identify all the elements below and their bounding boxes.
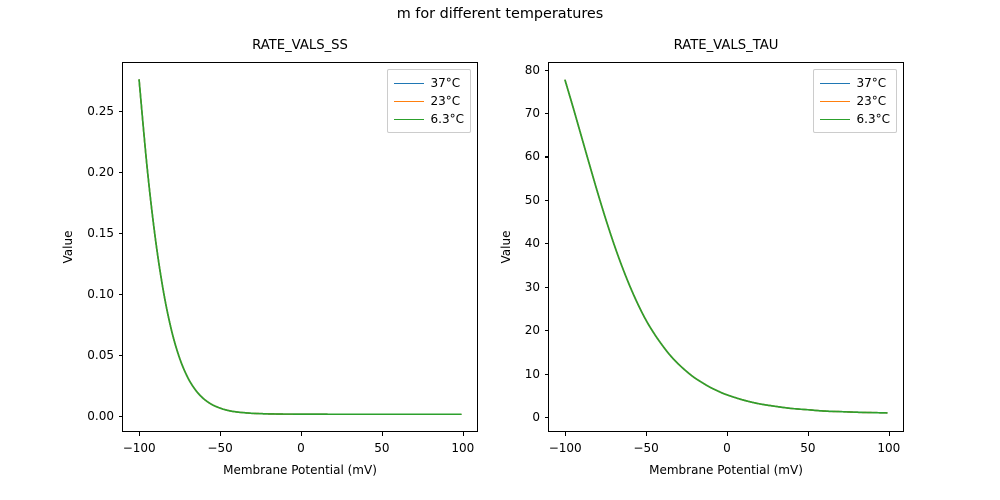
subplot-title-right: RATE_VALS_TAU	[549, 38, 903, 53]
y-tick-label: 0.15	[87, 226, 114, 240]
y-tick-label: 0.10	[87, 287, 114, 301]
y-tick-mark	[545, 113, 550, 114]
x-tick-mark	[565, 431, 566, 436]
legend-item[interactable]: 6.3°C	[820, 110, 890, 128]
x-tick-mark	[463, 431, 464, 436]
x-tick-label: 50	[800, 441, 815, 455]
x-tick-mark	[646, 431, 647, 436]
y-tick-label: 0.00	[87, 409, 114, 423]
y-tick-mark	[545, 200, 550, 201]
legend-left[interactable]: 37°C23°C6.3°C	[387, 69, 471, 133]
legend-swatch-line	[394, 119, 424, 120]
legend-swatch-line	[820, 101, 850, 102]
y-tick-label: 10	[525, 367, 540, 381]
legend-right[interactable]: 37°C23°C6.3°C	[813, 69, 897, 133]
legend-item[interactable]: 37°C	[394, 74, 464, 92]
legend-label: 6.3°C	[857, 112, 890, 126]
x-tick-label: −50	[207, 441, 232, 455]
x-tick-label: 100	[877, 441, 900, 455]
y-tick-mark	[545, 417, 550, 418]
y-tick-mark	[545, 287, 550, 288]
legend-label: 6.3°C	[431, 112, 464, 126]
legend-item[interactable]: 23°C	[820, 92, 890, 110]
legend-item[interactable]: 37°C	[820, 74, 890, 92]
x-tick-mark	[727, 431, 728, 436]
legend-swatch-line	[820, 119, 850, 120]
y-tick-label: 0.20	[87, 165, 114, 179]
legend-item[interactable]: 6.3°C	[394, 110, 464, 128]
legend-swatch-line	[820, 83, 850, 84]
x-tick-label: −100	[549, 441, 582, 455]
y-axis-label-left: Value	[61, 231, 75, 264]
x-tick-mark	[808, 431, 809, 436]
legend-label: 37°C	[431, 76, 461, 90]
x-axis-label-left: Membrane Potential (mV)	[123, 463, 477, 477]
x-tick-mark	[382, 431, 383, 436]
legend-label: 37°C	[857, 76, 887, 90]
y-tick-label: 40	[525, 236, 540, 250]
axes-rate-vals-tau: RATE_VALS_TAU −100−500501000102030405060…	[548, 62, 904, 432]
y-tick-label: 0.25	[87, 104, 114, 118]
y-tick-mark	[545, 374, 550, 375]
y-tick-label: 70	[525, 106, 540, 120]
x-tick-label: −100	[123, 441, 156, 455]
y-tick-label: 0.05	[87, 348, 114, 362]
x-tick-mark	[139, 431, 140, 436]
y-tick-label: 80	[525, 63, 540, 77]
x-tick-label: −50	[633, 441, 658, 455]
x-tick-label: 0	[723, 441, 731, 455]
axes-rate-vals-ss: RATE_VALS_SS −100−500501000.000.050.100.…	[122, 62, 478, 432]
legend-item[interactable]: 23°C	[394, 92, 464, 110]
x-tick-mark	[220, 431, 221, 436]
y-tick-mark	[119, 172, 124, 173]
legend-label: 23°C	[857, 94, 887, 108]
y-tick-mark	[119, 111, 124, 112]
matplotlib-figure: m for different temperatures RATE_VALS_S…	[0, 0, 1000, 500]
y-tick-label: 0	[532, 410, 540, 424]
x-tick-mark	[301, 431, 302, 436]
x-axis-label-right: Membrane Potential (mV)	[549, 463, 903, 477]
x-tick-label: 0	[297, 441, 305, 455]
y-tick-mark	[119, 355, 124, 356]
subplot-title-left: RATE_VALS_SS	[123, 38, 477, 53]
y-tick-mark	[119, 416, 124, 417]
y-tick-mark	[545, 156, 550, 157]
legend-swatch-line	[394, 83, 424, 84]
x-tick-label: 50	[374, 441, 389, 455]
legend-label: 23°C	[431, 94, 461, 108]
y-tick-mark	[545, 243, 550, 244]
y-axis-label-right: Value	[499, 231, 513, 264]
y-tick-mark	[119, 294, 124, 295]
y-tick-mark	[119, 233, 124, 234]
y-tick-label: 20	[525, 323, 540, 337]
figure-suptitle: m for different temperatures	[0, 6, 1000, 22]
y-tick-label: 60	[525, 149, 540, 163]
y-tick-label: 30	[525, 280, 540, 294]
y-tick-mark	[545, 70, 550, 71]
x-tick-label: 100	[451, 441, 474, 455]
y-tick-mark	[545, 330, 550, 331]
y-tick-label: 50	[525, 193, 540, 207]
legend-swatch-line	[394, 101, 424, 102]
x-tick-mark	[889, 431, 890, 436]
